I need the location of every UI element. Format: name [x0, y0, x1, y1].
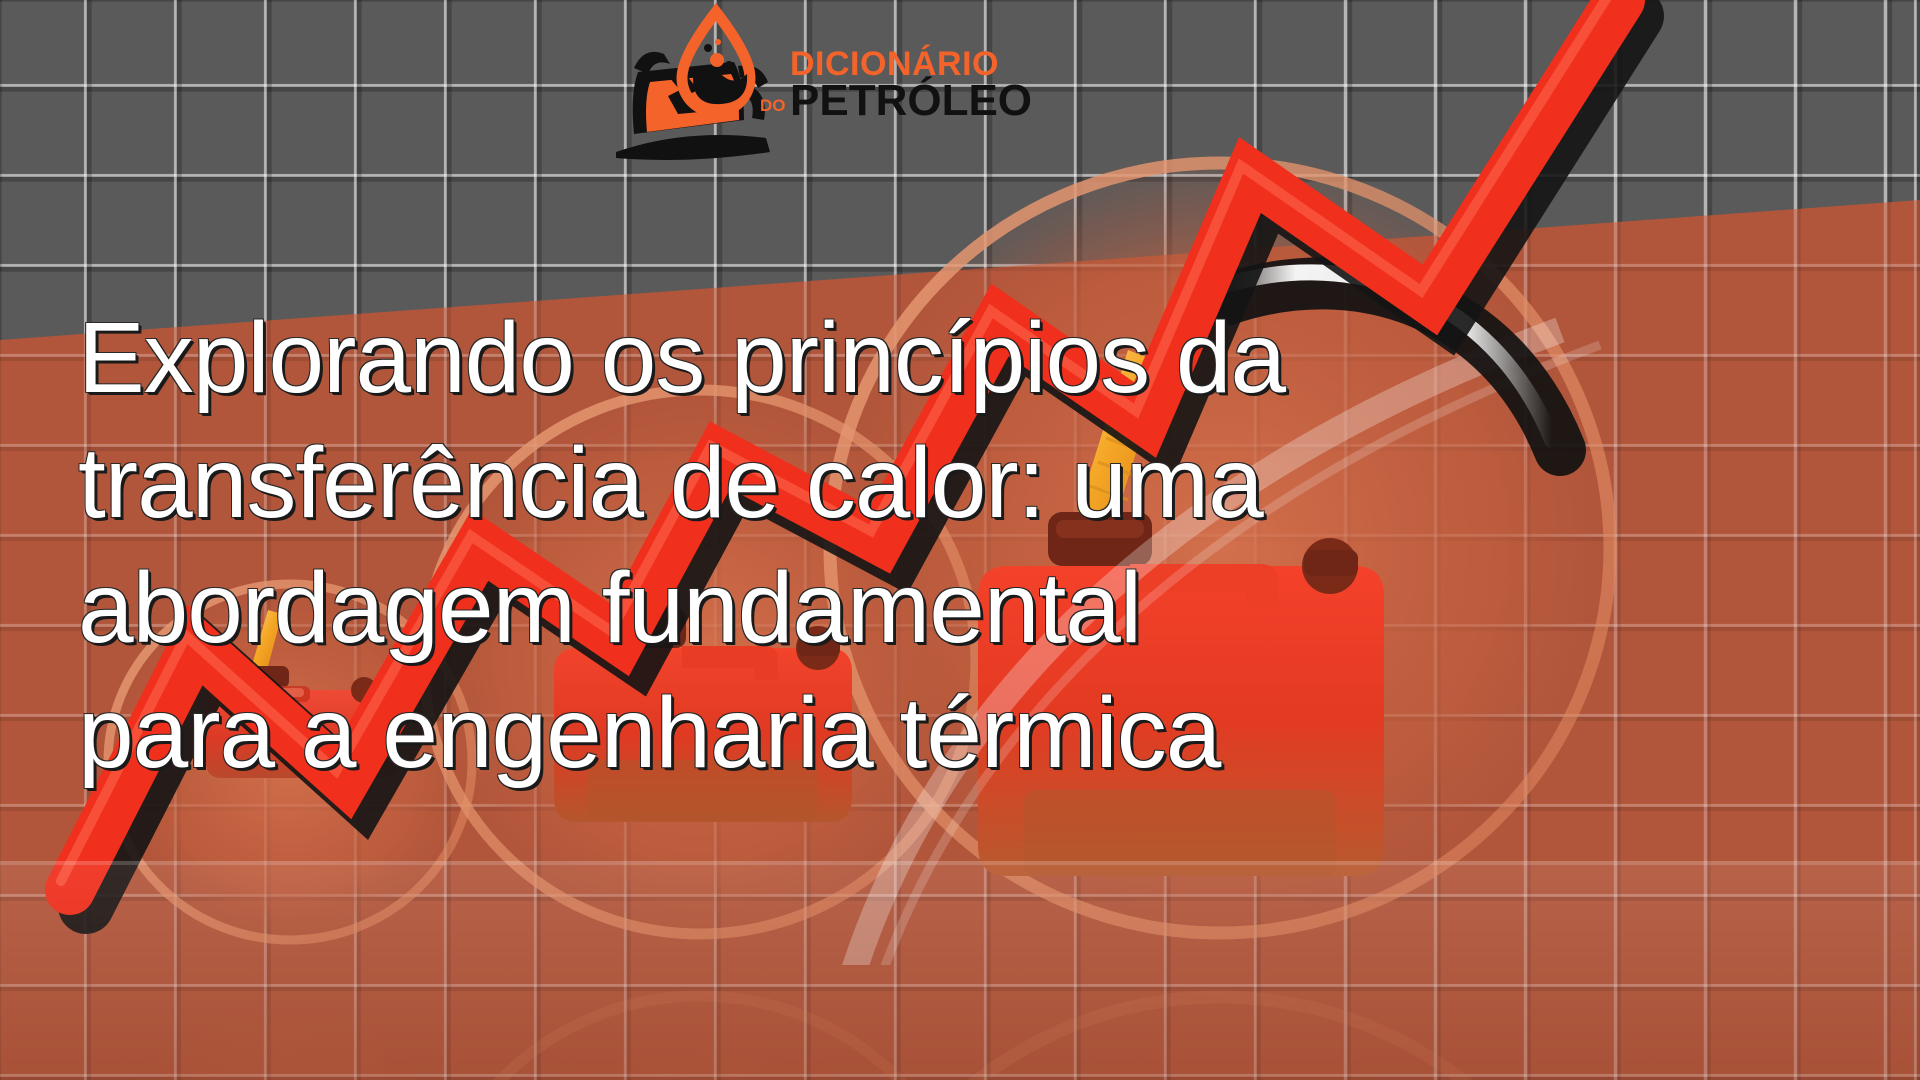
- headline-line-3: abordagem fundamental: [78, 546, 1868, 671]
- floor-reflection: [105, 985, 1615, 1080]
- oil-drop-barrel-icon: [598, 2, 798, 172]
- page-title: Explorando os princípios da transferênci…: [78, 296, 1868, 796]
- logo-name-line2: PETRÓLEO: [790, 82, 1032, 121]
- headline-line-4: para a engenharia térmica: [78, 671, 1868, 796]
- headline-line-1: Explorando os princípios da: [78, 296, 1868, 421]
- brand-logo[interactable]: DO DICIONÁRIO PETRÓLEO: [598, 2, 978, 172]
- poster-canvas: DO DICIONÁRIO PETRÓLEO Explorando os pri…: [0, 0, 1920, 1080]
- logo-wordmark: DICIONÁRIO PETRÓLEO: [790, 50, 1032, 121]
- logo-connector: DO: [760, 98, 786, 114]
- headline-line-2: transferência de calor: uma: [78, 421, 1868, 546]
- floor-edge-line: [0, 861, 1920, 865]
